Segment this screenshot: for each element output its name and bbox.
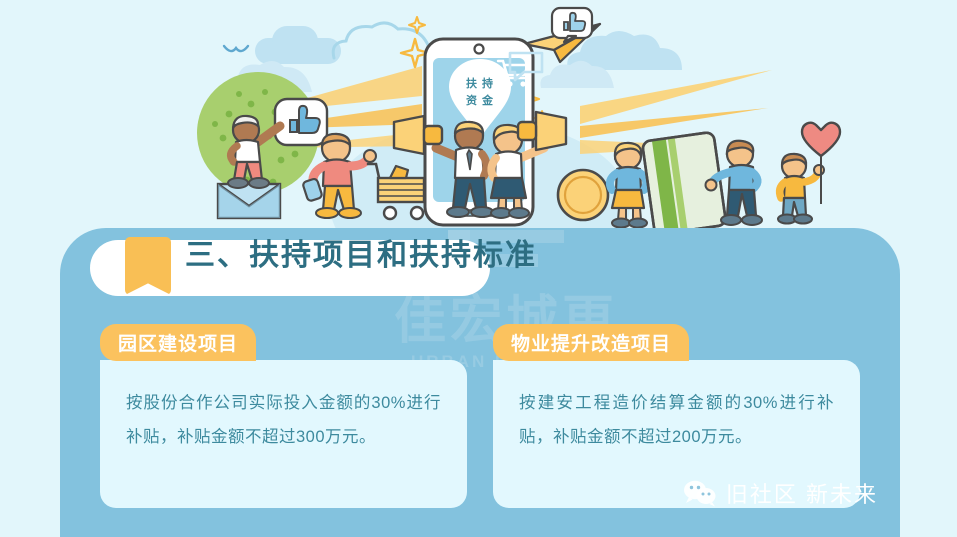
card-park-construction: 园区建设项目 按股份合作公司实际投入金额的30%进行补贴，补贴金额不超过300万… [100, 324, 467, 508]
wechat-label: 旧社区 新未来 [726, 477, 878, 509]
bird-icon [222, 44, 250, 58]
card-text: 按股份合作公司实际投入金额的30%进行补贴，补贴金额不超过300万元。 [126, 386, 441, 454]
card-text: 按建安工程造价结算金额的30%进行补贴，补贴金额不超过200万元。 [519, 386, 834, 454]
content-panel: 佳宏城更 URBAN RENEWAL 三、扶持项目和扶持标准 园区建设项目 按股… [60, 228, 900, 537]
thumbs-up-icon [546, 4, 598, 48]
phone-screen-line-2: 资 金 [448, 93, 512, 110]
infographic-canvas: 扶 持 资 金 [0, 0, 957, 537]
cloud-icon [272, 26, 318, 56]
card-tab-label: 物业提升改造项目 [493, 324, 689, 361]
megaphone-icon [390, 114, 448, 160]
heart-balloon-icon [798, 118, 844, 208]
wechat-icon [683, 479, 717, 507]
chat-bubble-icon [506, 50, 546, 84]
megaphone-icon [512, 110, 570, 156]
card-tab-label: 园区建设项目 [100, 324, 256, 361]
wechat-attribution: 旧社区 新未来 [683, 477, 878, 509]
person-thumbs-up [218, 112, 296, 188]
card-body: 按股份合作公司实际投入金额的30%进行补贴，补贴金额不超过300万元。 [100, 360, 467, 508]
page-title: 三、扶持项目和扶持标准 [185, 239, 537, 273]
sparkle-icon [408, 16, 426, 34]
